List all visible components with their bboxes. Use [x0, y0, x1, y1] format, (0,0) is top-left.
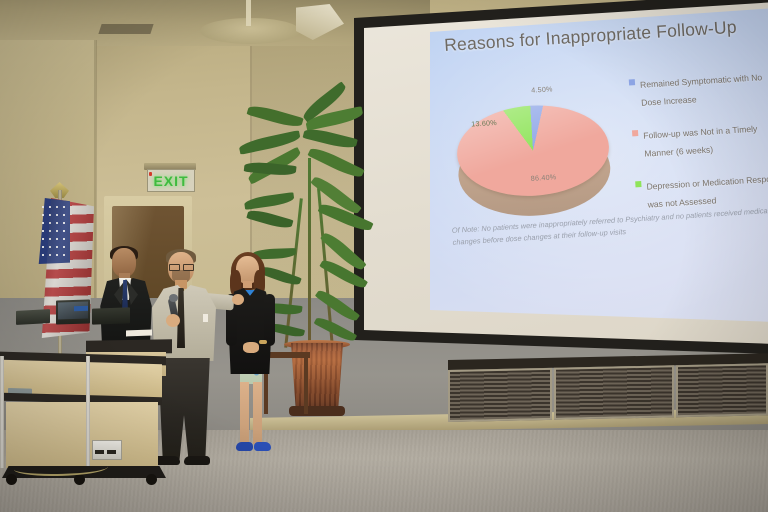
palm-frond: [303, 126, 358, 151]
presenter-microphone-hand-holding: [166, 314, 180, 327]
exit-sign-label: EXIT: [153, 173, 188, 189]
legend-label: Remained Symptomatic with No Dose Increa…: [640, 72, 763, 108]
legend-swatch-blue: [629, 79, 635, 85]
exit-sign-led-icon: [149, 172, 152, 176]
vent-segment: [448, 368, 552, 422]
exit-sign: EXIT: [144, 163, 196, 191]
pie-label-green: 13.60%: [471, 118, 497, 129]
presenter-blazer-neck: [243, 281, 252, 288]
presenter-blazer-leg-right: [253, 382, 262, 444]
podium-lower-panel: [6, 402, 158, 468]
chart-legend: Remained Symptomatic with No Dose Increa…: [629, 66, 768, 228]
palm-frond: [307, 145, 364, 181]
presenter-blazer-watch: [259, 340, 267, 344]
plant-stalk: [308, 158, 311, 348]
podium-caster: [74, 474, 85, 485]
legend-swatch-green: [635, 181, 641, 187]
presenter-microphone-badge: [203, 314, 208, 322]
presenter-microphone-hand-pointing: [232, 294, 244, 305]
podium: [0, 340, 166, 472]
presenter-blazer: [226, 256, 278, 462]
exit-sign-body: EXIT: [147, 169, 195, 192]
power-outlet-slot: [107, 450, 116, 454]
laptop-on-podium[interactable]: [16, 309, 50, 325]
presenter-blazer-hands: [243, 342, 259, 353]
presenter-blazer-leg-left: [240, 382, 249, 444]
palm-frond: [246, 208, 293, 231]
av-equipment[interactable]: [92, 307, 130, 324]
legend-label: Depression or Medication Response was no…: [646, 173, 768, 210]
ceiling-light-rod: [246, 0, 251, 26]
podium-rail-left: [0, 356, 4, 468]
glasses-icon: [169, 264, 193, 269]
vent-segment: [676, 363, 768, 417]
podium-caster: [6, 474, 17, 485]
wall-vent-grille: [448, 363, 768, 424]
legend-swatch-pink: [632, 130, 638, 136]
side-table-leg: [304, 356, 308, 414]
vent-segment: [554, 365, 674, 420]
legend-label: Follow-up was Not in a Timely Manner (6 …: [643, 124, 758, 159]
legend-item: Follow-up was Not in a Timely Manner (6 …: [632, 117, 768, 162]
podium-caster: [146, 474, 157, 485]
presentation-photo: EXIT Reasons for Inappropriate Follow-Up…: [0, 0, 768, 512]
pie-label-pink: 86.40%: [530, 172, 556, 183]
presenter-blazer-shoe-left: [236, 442, 253, 451]
power-outlet-slot: [95, 450, 104, 454]
blue-equipment: [74, 306, 88, 311]
pie-chart: 4.50% 13.60% 86.40%: [447, 76, 626, 236]
presenter-blazer-shoe-right: [254, 442, 271, 451]
palm-frond: [247, 103, 304, 130]
microphone-head-icon: [169, 294, 178, 302]
projection-screen: Reasons for Inappropriate Follow-Up 4.50…: [342, 0, 768, 392]
palm-frond: [244, 192, 295, 210]
legend-item: Remained Symptomatic with No Dose Increa…: [629, 66, 768, 111]
pie-label-blue: 4.50%: [531, 84, 553, 94]
presenter-microphone-shoe-right: [184, 456, 210, 465]
presenter-blazer-arm-right: [264, 294, 275, 346]
podium-rail: [86, 356, 90, 468]
ceiling-vent: [98, 24, 153, 34]
papers-on-podium[interactable]: [126, 330, 152, 337]
slide-content: Reasons for Inappropriate Follow-Up 4.50…: [428, 0, 768, 309]
